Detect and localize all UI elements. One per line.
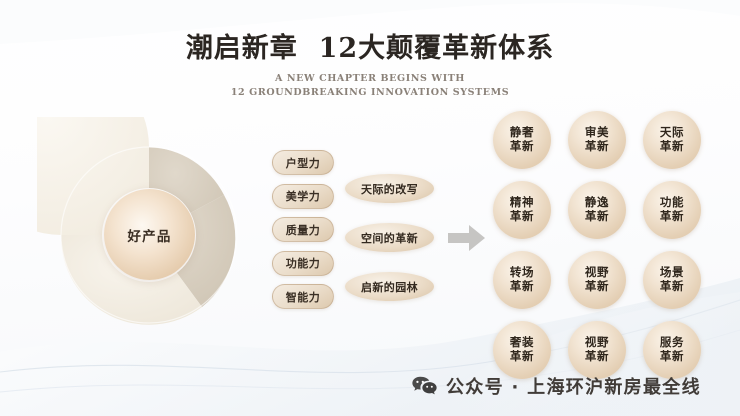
innovation-line-2: 革新 [510, 140, 534, 154]
capability-list: 户型力 美学力 质量力 功能力 智能力 [272, 150, 334, 318]
innovation-line-1: 场景 [660, 266, 684, 280]
theme-ellipse-label: 空间的革新 [361, 230, 418, 246]
innovation-line-2: 革新 [660, 210, 684, 224]
page-title: 潮启新章 12大颠覆革新体系 [0, 34, 740, 64]
innovation-line-2: 革新 [585, 210, 609, 224]
innovation-line-2: 革新 [585, 350, 609, 364]
innovation-line-1: 精神 [510, 196, 534, 210]
innovation-bubble[interactable]: 转场 革新 [493, 251, 551, 309]
capability-pill-label: 美学力 [286, 188, 321, 204]
footer: 公众号 · 上海环沪新房最全线 [412, 373, 701, 399]
innovation-bubble[interactable]: 静逸 革新 [568, 181, 626, 239]
innovation-bubble[interactable]: 服务 革新 [643, 321, 701, 379]
innovation-line-2: 革新 [510, 210, 534, 224]
capability-pill-label: 功能力 [286, 255, 321, 271]
innovation-bubble[interactable]: 天际 革新 [643, 111, 701, 169]
donut-center-label: 好产品 [127, 225, 171, 245]
innovation-bubble[interactable]: 审美 革新 [568, 111, 626, 169]
title-block: 潮启新章 12大颠覆革新体系 A NEW CHAPTER BEGINS WITH… [0, 34, 740, 98]
capability-pill-label: 户型力 [286, 155, 321, 171]
innovation-bubble[interactable]: 奢装 革新 [493, 321, 551, 379]
capability-pill[interactable]: 智能力 [272, 284, 334, 309]
innovation-line-1: 功能 [660, 196, 684, 210]
theme-ellipse-label: 启新的园林 [361, 279, 418, 295]
theme-ellipse[interactable]: 空间的革新 [345, 223, 434, 252]
innovation-line-1: 视野 [585, 266, 609, 280]
innovation-line-2: 革新 [585, 140, 609, 154]
innovation-bubble[interactable]: 功能 革新 [643, 181, 701, 239]
donut-center: 好产品 [104, 189, 195, 280]
innovation-line-2: 革新 [660, 280, 684, 294]
innovation-line-1: 静逸 [585, 196, 609, 210]
innovation-bubble[interactable]: 视野 革新 [568, 321, 626, 379]
theme-list: 天际的改写 空间的革新 启新的园林 [345, 174, 434, 321]
innovation-line-2: 革新 [585, 280, 609, 294]
donut-chart: 好产品 [37, 117, 257, 345]
innovation-line-1: 转场 [510, 266, 534, 280]
innovation-line-1: 审美 [585, 126, 609, 140]
theme-ellipse[interactable]: 启新的园林 [345, 272, 434, 301]
theme-ellipse-label: 天际的改写 [361, 181, 418, 197]
innovation-line-1: 静奢 [510, 126, 534, 140]
innovation-line-2: 革新 [660, 350, 684, 364]
capability-pill[interactable]: 美学力 [272, 184, 334, 209]
innovation-bubble[interactable]: 场景 革新 [643, 251, 701, 309]
capability-pill[interactable]: 户型力 [272, 150, 334, 175]
innovation-line-1: 奢装 [510, 336, 534, 350]
theme-ellipse[interactable]: 天际的改写 [345, 174, 434, 203]
capability-pill-label: 智能力 [286, 289, 321, 305]
innovation-line-2: 革新 [660, 140, 684, 154]
innovation-line-1: 服务 [660, 336, 684, 350]
subtitle-line-1: A NEW CHAPTER BEGINS WITH [0, 73, 740, 84]
innovation-line-2: 革新 [510, 280, 534, 294]
capability-pill[interactable]: 功能力 [272, 251, 334, 276]
innovation-bubble[interactable]: 视野 革新 [568, 251, 626, 309]
innovation-line-1: 天际 [660, 126, 684, 140]
subtitle-line-2: 12 GROUNDBREAKING INNOVATION SYSTEMS [0, 87, 740, 98]
footer-label: 公众号 · 上海环沪新房最全线 [446, 373, 701, 399]
innovation-grid: 静奢 革新 审美 革新 天际 革新 精神 革新 静逸 革新 功能 革新 转场 革… [493, 111, 708, 385]
slide-canvas: 潮启新章 12大颠覆革新体系 A NEW CHAPTER BEGINS WITH… [0, 0, 740, 416]
wechat-icon [412, 376, 437, 397]
innovation-line-2: 革新 [510, 350, 534, 364]
arrow-right-icon [447, 222, 487, 254]
innovation-bubble[interactable]: 精神 革新 [493, 181, 551, 239]
innovation-line-1: 视野 [585, 336, 609, 350]
innovation-bubble[interactable]: 静奢 革新 [493, 111, 551, 169]
capability-pill[interactable]: 质量力 [272, 217, 334, 242]
capability-pill-label: 质量力 [286, 222, 321, 238]
